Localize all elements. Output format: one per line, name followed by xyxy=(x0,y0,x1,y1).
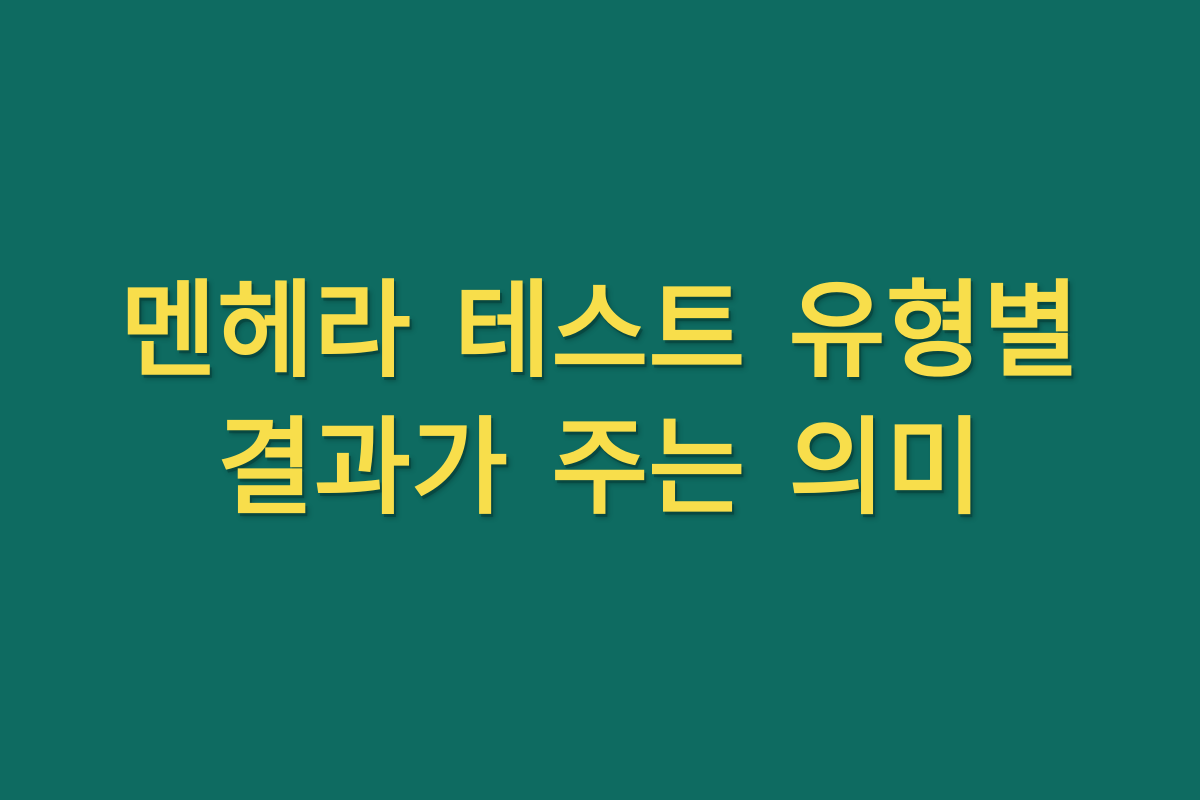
title-block: 멘헤라 테스트 유형별 결과가 주는 의미 xyxy=(80,263,1120,537)
title-banner: 멘헤라 테스트 유형별 결과가 주는 의미 xyxy=(0,0,1200,800)
page-title: 멘헤라 테스트 유형별 결과가 주는 의미 xyxy=(80,263,1120,537)
